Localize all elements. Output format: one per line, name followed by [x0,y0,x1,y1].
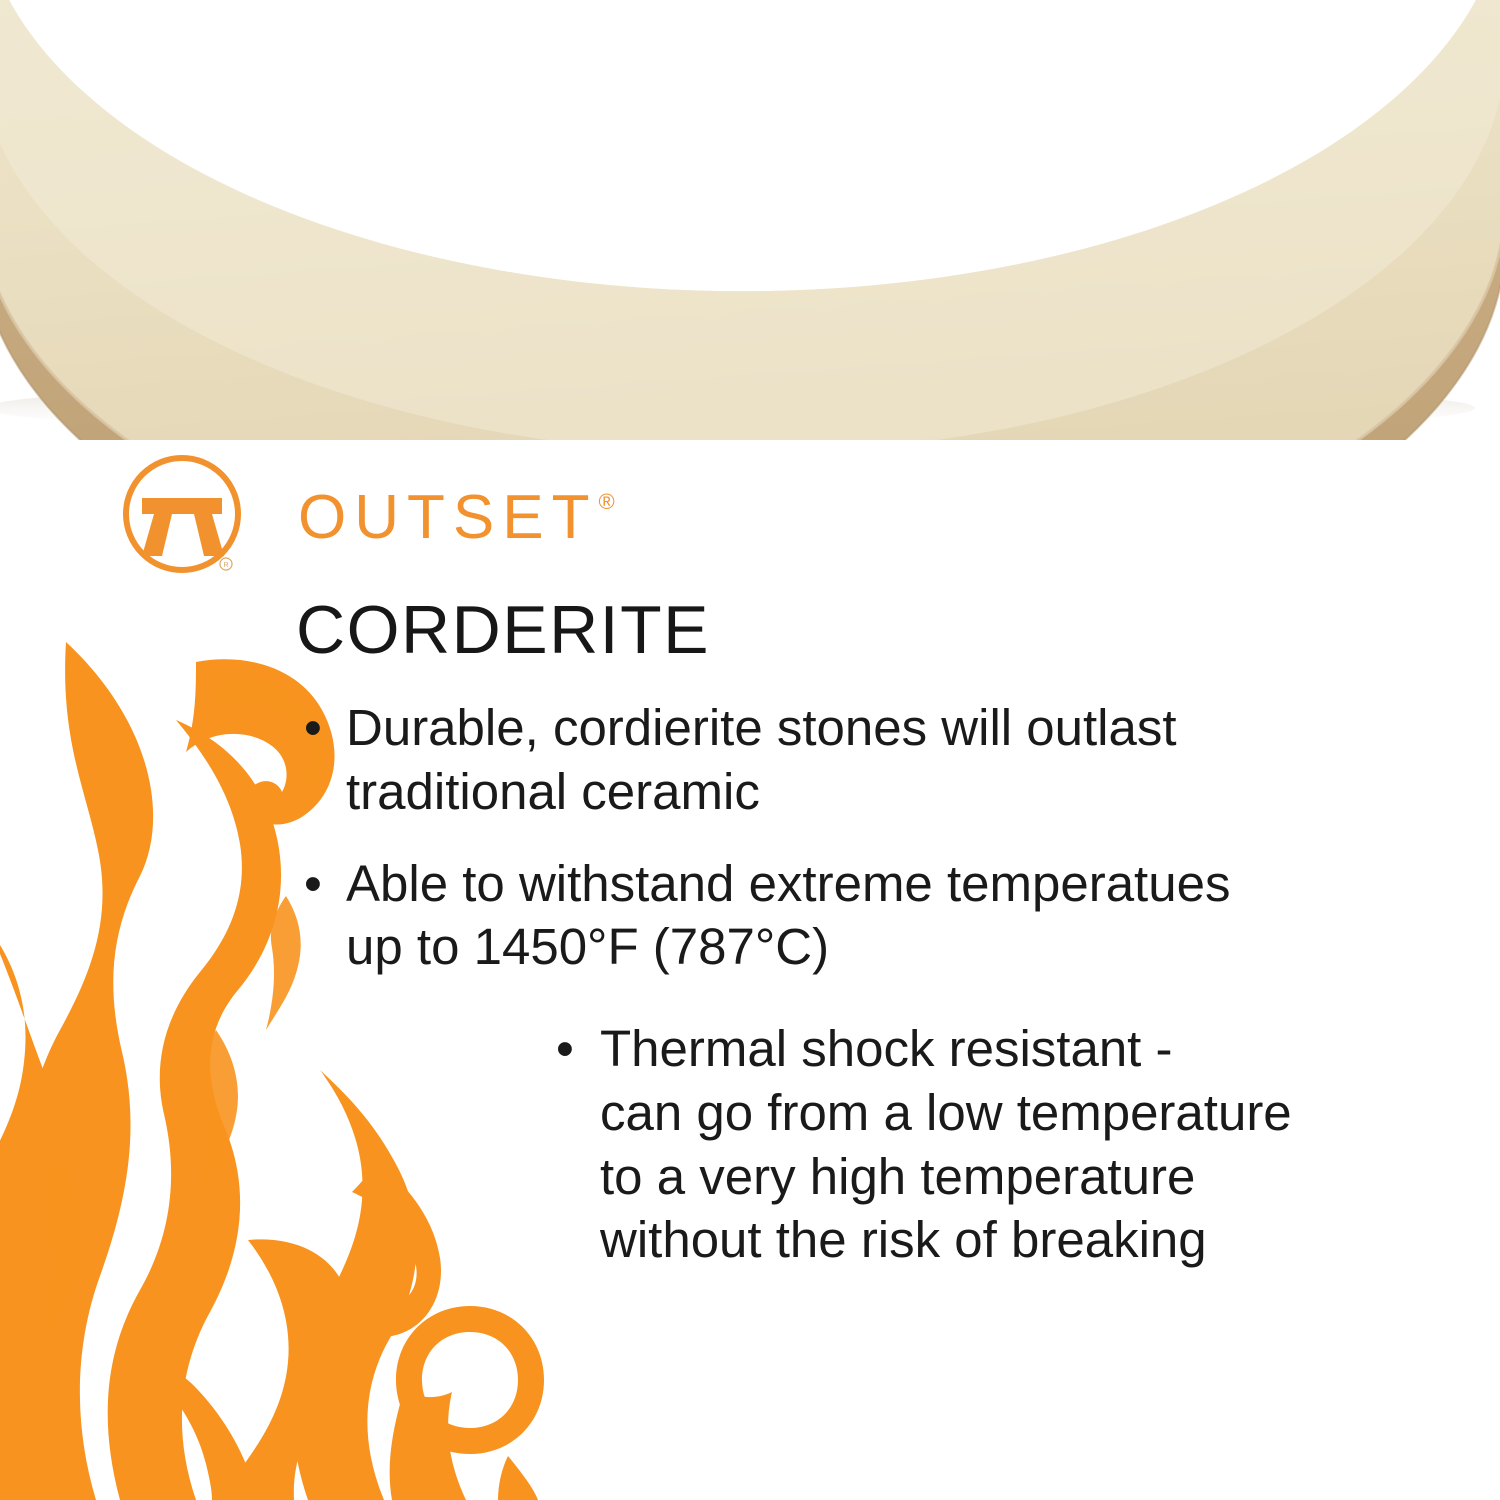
brand-lockup: R OUTSET ® [118,452,615,584]
feature-bullet-list: • Durable, cordierite stones will outlas… [296,696,1476,1272]
svg-text:R: R [223,562,228,569]
list-item-text: Able to withstand extreme temperatues up… [346,852,1476,980]
list-item: • Able to withstand extreme temperatues … [296,852,1476,980]
outset-picnic-table-circle-logo: R [118,452,250,584]
list-item-text: Durable, cordierite stones will outlast … [346,696,1476,824]
bullet-marker-icon: • [556,1017,574,1081]
page-title: CORDERITE [296,596,1476,664]
list-item: • Durable, cordierite stones will outlas… [296,696,1476,824]
feature-copy-block: CORDERITE • Durable, cordierite stones w… [296,596,1476,1300]
registered-trademark-icon: ® [598,491,614,513]
outset-wordmark: OUTSET ® [298,487,615,549]
bullet-marker-icon: • [304,696,322,760]
list-item: • Thermal shock resistant - can go from … [548,1017,1476,1272]
bullet-marker-icon: • [304,852,322,916]
list-item-text: Thermal shock resistant - can go from a … [600,1017,1476,1272]
product-feature-graphic: R OUTSET ® CORDERITE • Durable, cordieri… [0,0,1500,1500]
brand-name-text: OUTSET [298,487,597,549]
pizza-stone-photo [0,0,1500,440]
